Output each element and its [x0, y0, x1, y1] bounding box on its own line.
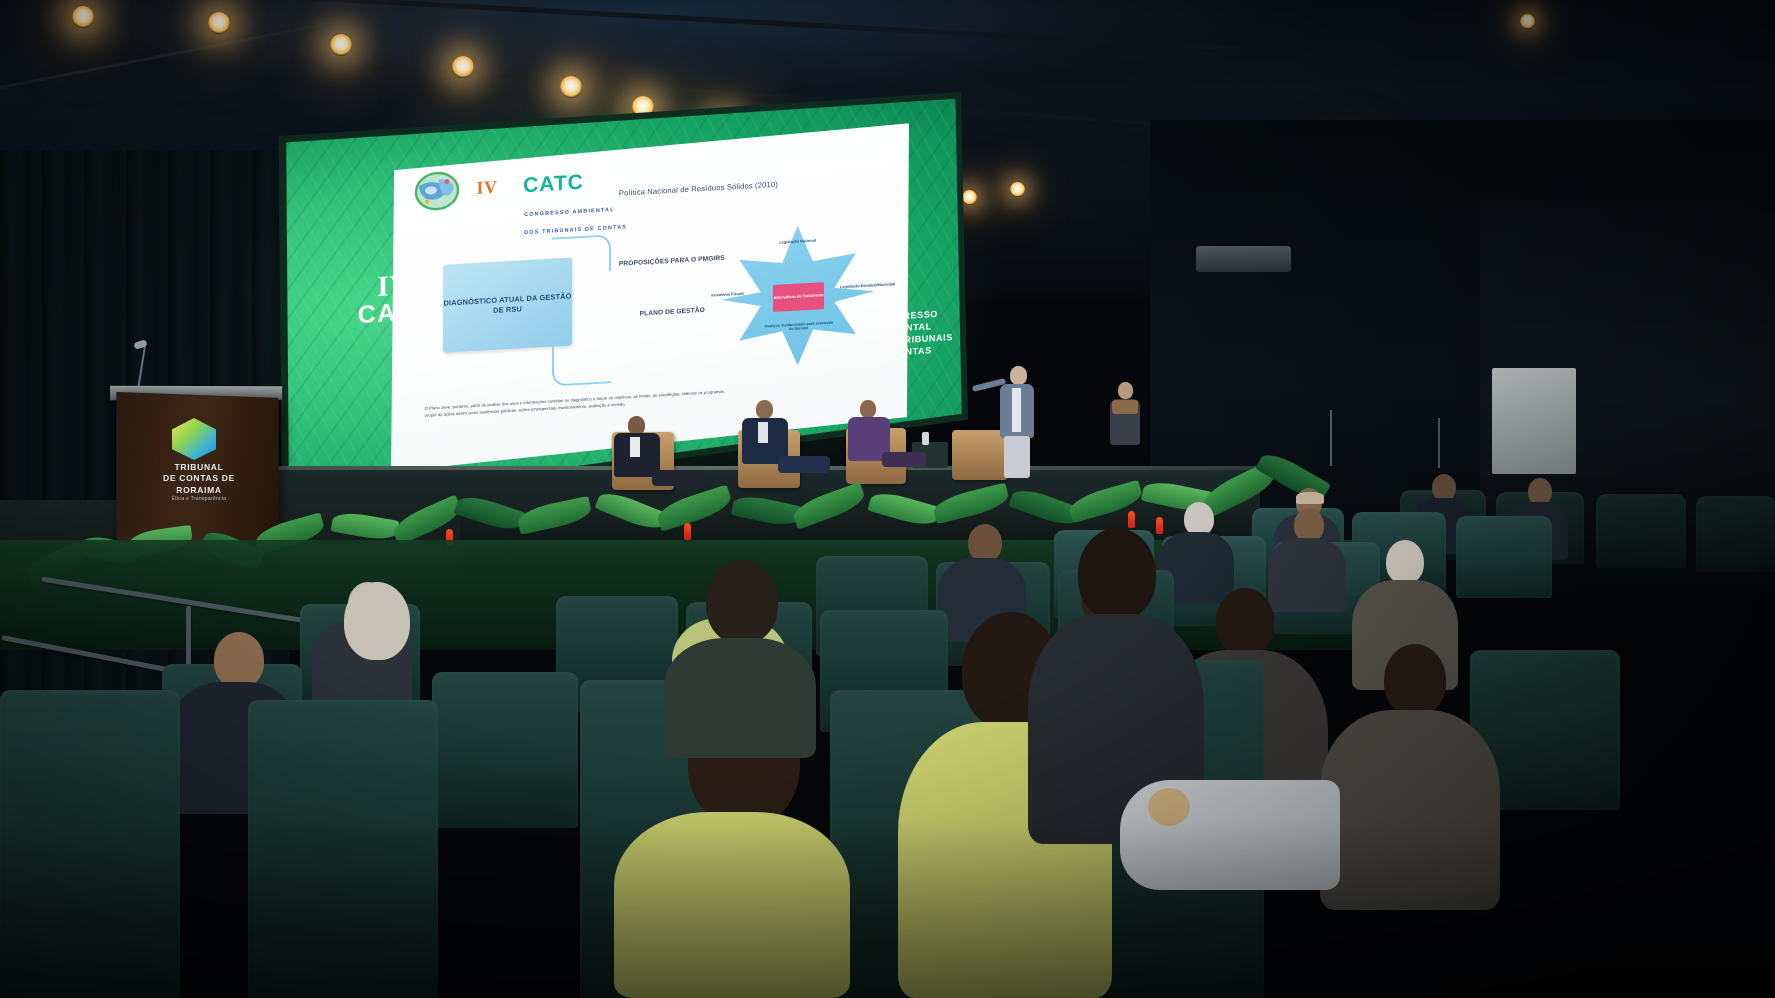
- plant-flower: [1128, 511, 1135, 528]
- plant-leaf: [731, 492, 802, 529]
- spotlight-14: [1520, 14, 1535, 29]
- interpreter-head: [1118, 382, 1133, 399]
- seat: [0, 690, 180, 998]
- seat: [1456, 516, 1552, 598]
- water-bottle: [922, 432, 929, 445]
- flow-arrow-top: [551, 235, 610, 275]
- spotlight-4: [452, 56, 474, 78]
- slide-content: IV CATC CONGRESSO AMBIENTAL DOS TRIBUNAI…: [391, 123, 909, 472]
- plant-flower: [1156, 517, 1163, 534]
- panelist-2-head: [756, 400, 773, 419]
- plant-leaf: [516, 496, 593, 535]
- star-label-right: Legislação Estadual/Municipal: [835, 282, 898, 290]
- wall-right-panel: [1480, 200, 1775, 530]
- plant-leaf: [931, 483, 1011, 525]
- mic-stand-right-2: [1438, 418, 1440, 468]
- speaker-shirt: [1012, 388, 1021, 432]
- panelist-1-shirt: [630, 437, 640, 457]
- globe-icon: [414, 170, 460, 213]
- interpreter-hands: [1112, 400, 1138, 414]
- conference-photo-scene: IV CATC CONGRESSO AMBIENTAL DOS TRIBUNAI…: [0, 0, 1775, 998]
- diagnostic-box-label: DIAGNÓSTICO ATUAL DA GESTÃO DE RSU: [442, 292, 572, 318]
- slide-logo-acronym: CATC: [523, 171, 584, 198]
- slide-paragraph: O Plano deve, portanto, partir de anális…: [424, 389, 724, 419]
- seat: [1696, 496, 1775, 572]
- plant-leaf: [454, 492, 526, 535]
- wall-vent: [1196, 246, 1291, 272]
- slide-logo-subtitle-2: DOS TRIBUNAIS DE CONTAS: [524, 224, 627, 236]
- plant-leaf: [867, 488, 941, 529]
- spotlight-3: [330, 34, 352, 56]
- slide-logo-subtitle-1: CONGRESSO AMBIENTAL: [524, 207, 614, 218]
- plant-leaf: [790, 482, 868, 530]
- speaker-head: [1010, 366, 1027, 385]
- slide-logo-roman: IV: [476, 177, 497, 199]
- panelist-2-shirt: [758, 422, 768, 443]
- seat: [248, 700, 438, 998]
- spotlight-2: [208, 12, 230, 34]
- presentation-slide: IV CATC CONGRESSO AMBIENTAL DOS TRIBUNAI…: [391, 123, 909, 472]
- plant-leaf: [654, 484, 734, 531]
- spotlight-12: [1010, 182, 1025, 197]
- seat: [432, 672, 578, 828]
- slide-title: Política Nacional de Resíduos Sólidos (2…: [618, 180, 777, 198]
- star-center-label: Alternativas de Tratamento: [773, 294, 823, 301]
- side-door-panel: [1492, 368, 1576, 474]
- star-center-box: Alternativas de Tratamento: [772, 283, 824, 312]
- spotlight-1: [72, 6, 94, 28]
- plant-leaf: [331, 510, 400, 543]
- plant-leaf: [595, 487, 668, 534]
- flow-step-plano: PLANO DE GESTÃO: [639, 307, 704, 319]
- star-diagram: Legislação Nacional Incentivos Fiscais L…: [701, 207, 893, 384]
- plant-leaf: [389, 494, 465, 545]
- plant-flower: [684, 523, 691, 540]
- flow-arrow-bottom: [551, 343, 610, 387]
- seat: [1596, 494, 1686, 568]
- panelist-3-head: [860, 400, 876, 418]
